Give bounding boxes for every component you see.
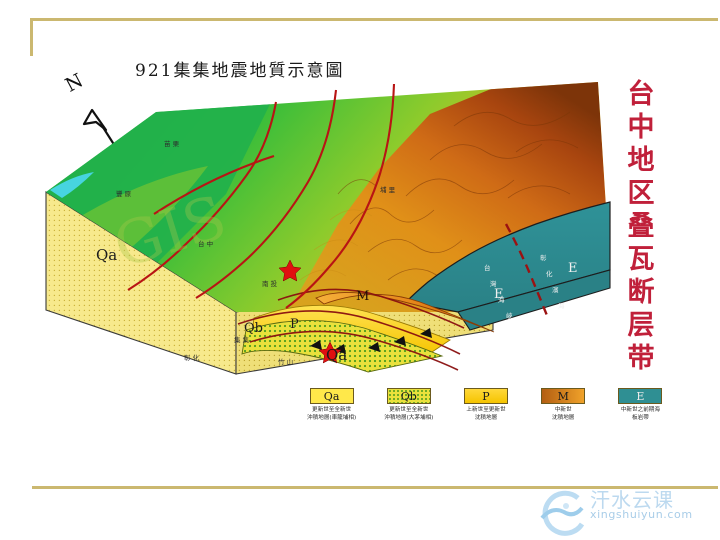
sea-label: 海 [558,301,565,310]
legend-item-m: M 中新世 沈積地層 [532,388,595,448]
place-label: 苗 栗 [164,140,180,148]
place-label: 竹 山 [278,357,293,366]
sea-label: 化 [546,269,553,278]
sea-label: 濱 [552,285,559,294]
sea-label: 台 [484,263,491,272]
sea-label: 彰 [540,253,547,262]
legend-item-qb: Qb 更新世至全新世 沖積地層(大茅埔相) [377,388,440,448]
legend-code-qa: Qa [324,390,340,403]
block-diagram-svg: GIS Qa Qa Qb P M E E 苗 栗 豐 原 台 中 南 投 埔 里… [38,74,638,384]
legend-caption-line: 更新世至全新世 [300,407,363,415]
unit-label-m: M [356,289,369,304]
watermark: 汗水云课 xingshuiyun.com [528,488,718,536]
legend-caption-line: 沖積地層(大茅埔相) [377,415,440,423]
legend-swatch-qb: Qb [387,388,431,404]
left-gold-rule [30,18,33,56]
legend-caption-line: 沈積地層 [454,415,517,423]
legend-code-qb: Qb [401,390,417,403]
unit-label-e-2: E [568,261,578,276]
legend-caption-line: 中新世 [532,407,595,415]
sea-label: 灣 [490,279,497,288]
legend-caption-line: 板岩帶 [609,415,672,423]
place-label: 台 中 [198,239,213,248]
legend-caption-line: 沈積地層 [532,415,595,423]
legend: Qa 更新世至全新世 沖積地層(車籠埔相) Qb 更新世至全新世 沖積地層(大茅… [300,388,672,448]
watermark-url: xingshuiyun.com [590,508,693,521]
legend-caption-line: 中新世之前期海 [609,407,672,415]
legend-item-qa: Qa 更新世至全新世 沖積地層(車籠埔相) [300,388,363,448]
legend-caption-qa: 更新世至全新世 沖積地層(車籠埔相) [300,407,363,422]
place-label: 彰 化 [184,353,200,362]
sea-label: 海 [498,295,505,304]
top-gold-rule [30,18,718,21]
legend-caption-line: 上新世至更新世 [454,407,517,415]
place-label: 南 投 [262,279,278,288]
legend-caption-line: 更新世至全新世 [377,407,440,415]
legend-code-m: M [558,390,569,403]
place-label: 集 集 [234,335,250,344]
wave-logo-icon [528,488,586,536]
legend-swatch-qa: Qa [310,388,354,404]
legend-caption-m: 中新世 沈積地層 [532,407,595,422]
legend-swatch-p: P [464,388,508,404]
legend-code-e: E [636,390,644,403]
legend-item-p: P 上新世至更新世 沈積地層 [454,388,517,448]
unit-label-p: P [290,317,299,332]
unit-label-qa-left: Qa [96,246,117,264]
geological-block-diagram: GIS Qa Qa Qb P M E E 苗 栗 豐 原 台 中 南 投 埔 里… [38,74,638,384]
legend-swatch-e: E [618,388,662,404]
unit-label-qa-front: Qa [326,346,347,364]
unit-label-qb: Qb [244,321,263,336]
legend-caption-p: 上新世至更新世 沈積地層 [454,407,517,422]
place-label: 埔 里 [380,185,396,194]
legend-caption-qb: 更新世至全新世 沖積地層(大茅埔相) [377,407,440,422]
legend-caption-line: 沖積地層(車籠埔相) [300,415,363,423]
place-label: 豐 原 [116,189,132,198]
legend-item-e: E 中新世之前期海 板岩帶 [609,388,672,448]
sea-label: 峽 [506,311,513,320]
legend-code-p: P [482,390,489,403]
legend-caption-e: 中新世之前期海 板岩帶 [609,407,672,422]
legend-swatch-m: M [541,388,585,404]
